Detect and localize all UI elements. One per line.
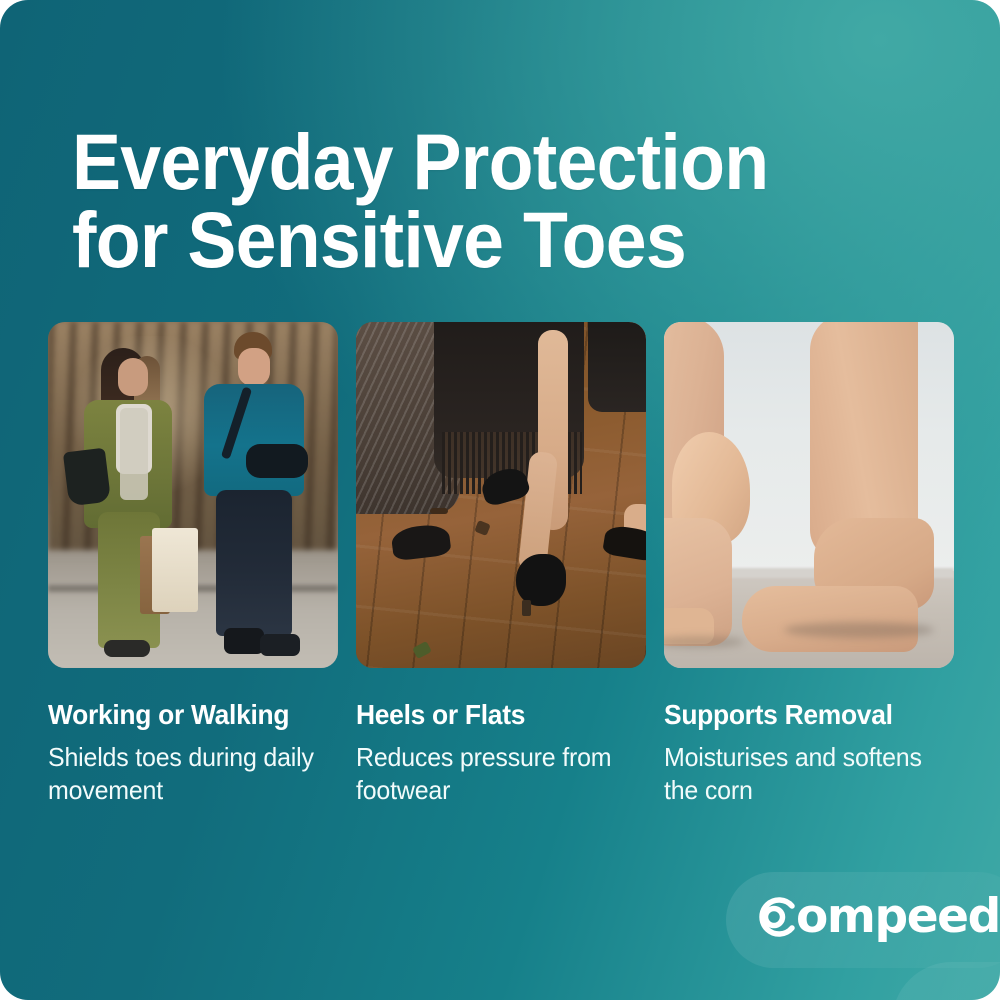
brand-name: ompeed <box>796 893 1000 940</box>
headline-line-2: for Sensitive Toes <box>72 201 853 279</box>
heel-spike <box>522 600 531 616</box>
feature-cards: Working or Walking Shields toes during d… <box>48 322 952 807</box>
man-teal-tshirt <box>204 384 304 496</box>
black-heel-front <box>516 554 566 606</box>
foot-shadow-right <box>784 622 934 638</box>
feature-column-working-or-walking: Working or Walking Shields toes during d… <box>48 322 338 807</box>
compeed-c-icon <box>752 893 796 941</box>
woman-jacket-opening <box>120 408 148 500</box>
page-title: Everyday Protection for Sensitive Toes <box>72 123 853 279</box>
photo-bare-feet <box>664 322 954 668</box>
feature-title: Supports Removal <box>664 700 942 730</box>
man-face <box>238 348 270 386</box>
woman-shoe <box>104 640 150 657</box>
woman-face <box>118 358 148 396</box>
shopping-bag-cream <box>152 528 198 612</box>
woman-handbag <box>63 448 111 507</box>
feature-column-heels-or-flats: Heels or Flats Reduces pressure from foo… <box>356 322 646 807</box>
feature-body: Moisturises and softens the corn <box>664 741 942 807</box>
feature-body: Shields toes during daily movement <box>48 741 326 807</box>
product-poster: Everyday Protection for Sensitive Toes <box>0 0 1000 1000</box>
foot-right-flat <box>742 586 918 652</box>
man-boot-left <box>224 628 264 654</box>
man-boot-right <box>260 634 300 656</box>
man-dark-trousers <box>216 490 292 636</box>
brand-logo: ompeed ® <box>752 893 1000 941</box>
man-crossbody-bag <box>246 444 308 478</box>
feature-body: Reduces pressure from footwear <box>356 741 634 807</box>
feature-title: Heels or Flats <box>356 700 634 730</box>
feature-title: Working or Walking <box>48 700 326 730</box>
headline-line-1: Everyday Protection <box>72 117 768 206</box>
floor-debris-2 <box>430 508 448 514</box>
photo-couple-walking <box>48 322 338 668</box>
photo-heels-on-floor <box>356 322 646 668</box>
dark-dress-right <box>588 322 646 412</box>
feature-column-supports-removal: Supports Removal Moisturises and softens… <box>664 322 954 807</box>
